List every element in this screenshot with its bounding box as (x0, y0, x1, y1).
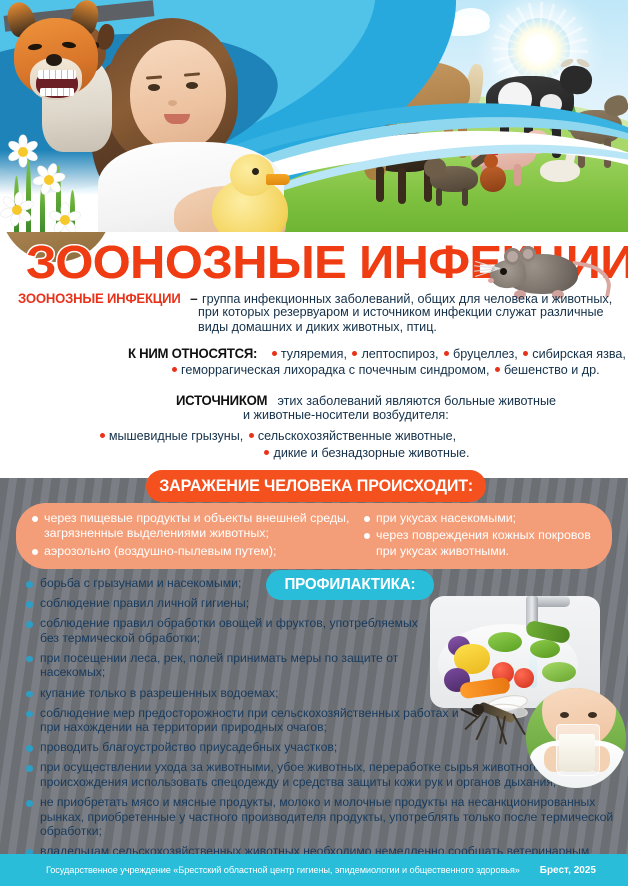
prevention-item: борьба с грызунами и насекомыми; (24, 576, 290, 591)
prevention-item: проводить благоустройство приусадебных у… (24, 740, 440, 755)
bullet-dot-icon (352, 351, 357, 356)
routes-right-column: при укусах насекомыми; через повреждения… (362, 511, 612, 561)
source-line2: и животные-носители возбудителя: (243, 408, 449, 424)
bullet-dot-icon (100, 433, 105, 438)
source-line3: мышевидные грызуны, сельскохозяйственные… (42, 428, 512, 444)
infection-routes-panel: через пищевые продукты и объекты внешней… (16, 503, 612, 569)
source-line1: этих заболеваний являются больные животн… (277, 394, 556, 408)
sun-icon (508, 18, 570, 80)
boy-drinking-milk-photo (526, 688, 626, 788)
girl-with-duckling-photo (82, 10, 292, 232)
definition-line2: при которых резервуаром и источником инф… (198, 305, 622, 320)
prevention-item: при посещении леса, рек, полей принимать… (24, 651, 460, 680)
routes-badge-label: ЗАРАЖЕНИЕ ЧЕЛОВЕКА ПРОИСХОДИТ: (159, 476, 473, 496)
disease-item: лептоспироз, (361, 347, 438, 361)
disease-item: геморрагическая лихорадка с почечным син… (181, 363, 489, 377)
prevention-item: купание только в разрешенных водоемах; (24, 686, 340, 701)
route-item: через повреждения кожных покровов при ук… (362, 528, 612, 559)
definition-line1: группа инфекционных заболеваний, общих д… (202, 292, 612, 306)
diseases-line2: геморрагическая лихорадка с почечным син… (170, 362, 628, 378)
definition-continued: при которых резервуаром и источником инф… (198, 305, 622, 336)
bullet-dot-icon (172, 367, 177, 372)
bullet-dot-icon (495, 367, 500, 372)
routes-badge: ЗАРАЖЕНИЕ ЧЕЛОВЕКА ПРОИСХОДИТ: (146, 470, 486, 502)
bullet-dot-icon (272, 351, 277, 356)
cloud-icon (452, 8, 490, 32)
footer-bar: Государственное учреждение «Брестский об… (0, 854, 628, 886)
source-item: сельскохозяйственные животные, (258, 429, 456, 443)
daisy-flower-icon (36, 166, 62, 192)
page-title: ЗООНОЗНЫЕ ИНФЕКЦИИ (26, 236, 524, 288)
disease-item: бруцеллез, (453, 347, 518, 361)
daisy-flower-icon (4, 196, 38, 230)
footer-city-year: Брест, 2025 (540, 865, 596, 876)
diseases-line1: туляремия, лептоспироз, бруцеллез, сибир… (270, 347, 626, 361)
route-item: через пищевые продукты и объекты внешней… (30, 511, 350, 542)
diseases-heading: К НИМ ОТНОСЯТСЯ: (128, 345, 257, 361)
disease-item: туляремия, (281, 347, 347, 361)
footer-organization: Государственное учреждение «Брестский об… (46, 865, 520, 876)
prevention-item: при осуществлении ухода за животными, уб… (24, 760, 600, 789)
daisy-flower-icon (52, 206, 78, 232)
source-item: мышевидные грызуны, (109, 429, 244, 443)
bullet-dot-icon (264, 450, 269, 455)
definition-dash: – (190, 291, 198, 306)
route-item: аэрозольно (воздушно-пылевым путем); (30, 544, 350, 559)
prevention-item: соблюдение мер предосторожности при сель… (24, 706, 460, 735)
prevention-item: соблюдение правил обработки овощей и фру… (24, 616, 440, 645)
diseases-block: К НИМ ОТНОСЯТСЯ: туляремия, лептоспироз,… (128, 345, 628, 363)
source-item: дикие и безнадзорные животные. (273, 446, 469, 460)
disease-item: бешенство и др. (504, 363, 600, 377)
source-line4: дикие и безнадзорные животные. (146, 445, 586, 461)
disease-item: сибирская язва, (532, 347, 626, 361)
bullet-dot-icon (523, 351, 528, 356)
prevention-item: не приобретать мясо и мясные продукты, м… (24, 795, 628, 839)
source-block: ИСТОЧНИКОМ этих заболеваний являются бол… (176, 392, 576, 410)
duckling-illustration (208, 152, 292, 232)
mosquito-photo (452, 690, 538, 752)
definition-term: ЗООНОЗНЫЕ ИНФЕКЦИИ (18, 291, 181, 306)
bullet-dot-icon (444, 351, 449, 356)
poster-root: ЗООНОЗНЫЕ ИНФЕКЦИИ ЗООНОЗНЫЕ ИНФЕКЦИИ ЗО… (0, 0, 628, 886)
source-heading: ИСТОЧНИКОМ (176, 392, 267, 408)
prevention-item: соблюдение правил личной гигиены; (24, 596, 290, 611)
definition-line3: виды домашних и диких животных, птиц. (198, 320, 622, 335)
routes-left-column: через пищевые продукты и объекты внешней… (30, 511, 350, 561)
bullet-dot-icon (249, 433, 254, 438)
daisy-flower-icon (10, 138, 36, 164)
route-item: при укусах насекомыми; (362, 511, 612, 526)
